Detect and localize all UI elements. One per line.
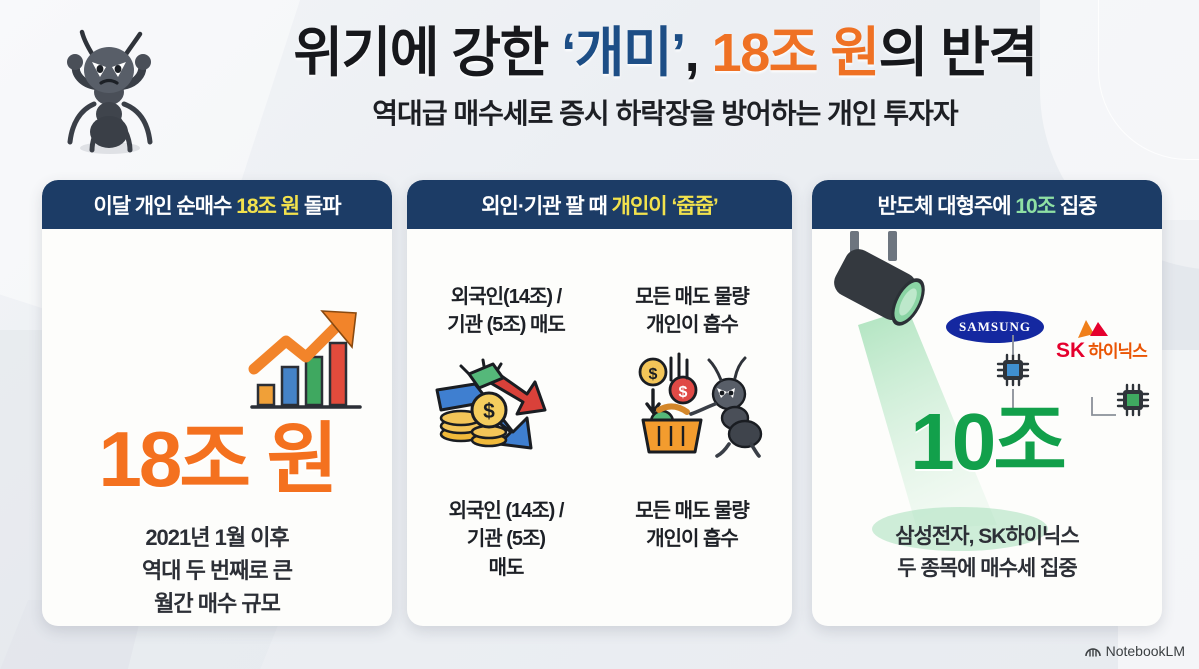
card-2-right-footer: 모든 매도 물량 개인이 흡수 [599,497,785,554]
card-net-buying: 이달 개인 순매수 18조 원 돌파 18조 원 2021년 1월 이후 역대 … [42,180,392,626]
title-segment-5: 의 반격 [879,23,1037,83]
card-2-header-text: 외인·기관 팔 때 개인이 ‘줍줍’ [481,190,718,220]
card-2-header-seg-1: 외인·기관 팔 때 [481,195,611,218]
card-1-caption-line-3: 월간 매수 규모 [42,587,392,620]
title-segment-1: 위기에 강한 [293,23,561,83]
title-segment-gaemi: ‘개미’ [561,23,684,83]
card-3-big-number: 10조 [812,377,1162,493]
card-3-header: 반도체 대형주에 10조 집중 [812,180,1162,229]
card-2-left-column: 외국인(14조) / 기관 (5조) 매도 $ [413,283,599,463]
title-segment-amount: 18조 원 [712,23,879,83]
card-2-header: 외인·기관 팔 때 개인이 ‘줍줍’ [407,180,792,229]
notebooklm-watermark: NotebookLM [1085,643,1185,659]
svg-text:$: $ [679,384,688,401]
card-2-right-heading-line-2: 개인이 흡수 [599,311,785,339]
card-3-caption-line-2: 두 종목에 매수세 집중 [812,553,1162,585]
card-2-header-highlight: 개인이 ‘줍줍’ [612,195,718,218]
ant-shopping-basket-icon: $ $ [617,348,767,458]
title-block: 위기에 강한 ‘개미’, 18조 원의 반격 역대급 매수세로 증시 하락장을 … [160,22,1170,132]
card-2-left-footer: 외국인 (14조) / 기관 (5조) 매도 [413,497,599,582]
card-3-header-seg-1: 반도체 대형주에 [877,195,1015,218]
title-segment-comma: , [685,23,712,83]
card-2-right-heading-line-1: 모든 매도 물량 [599,283,785,311]
card-semiconductor-focus: 반도체 대형주에 10조 집중 [812,180,1162,626]
card-2-right-column: 모든 매도 물량 개인이 흡수 $ $ [599,283,785,463]
page-header: 위기에 강한 ‘개미’, 18조 원의 반격 역대급 매수세로 증시 하락장을 … [0,0,1199,168]
card-1-header-highlight: 18조 원 [236,195,299,218]
card-1-header-text: 이달 개인 순매수 18조 원 돌파 [93,190,340,220]
card-3-caption-line-1: 삼성전자, SK하이닉스 [812,521,1162,553]
coins-down-arrows-icon: $ [431,348,581,458]
card-2-left-footer-line-2: 기관 (5조) [413,525,599,553]
card-1-body: 18조 원 2021년 1월 이후 역대 두 번째로 큰 월간 매수 규모 [42,229,392,626]
svg-text:$: $ [483,400,495,423]
page-subtitle: 역대급 매수세로 증시 하락장을 방어하는 개인 투자자 [160,92,1170,132]
card-2-left-footer-line-3: 매도 [413,554,599,582]
notebooklm-label: NotebookLM [1106,643,1185,659]
svg-text:$: $ [649,366,658,383]
card-3-header-text: 반도체 대형주에 10조 집중 [877,190,1096,220]
card-1-caption: 2021년 1월 이후 역대 두 번째로 큰 월간 매수 규모 [42,521,392,620]
card-2-left-heading: 외국인(14조) / 기관 (5조) 매도 [413,283,599,340]
card-3-caption: 삼성전자, SK하이닉스 두 종목에 매수세 집중 [812,521,1162,584]
card-2-right-heading: 모든 매도 물량 개인이 흡수 [599,283,785,340]
card-2-left-heading-line-1: 외국인(14조) / [413,283,599,311]
card-2-left-footer-line-1: 외국인 (14조) / [413,497,599,525]
card-1-caption-line-2: 역대 두 번째로 큰 [42,554,392,587]
page-title: 위기에 강한 ‘개미’, 18조 원의 반격 [160,22,1170,84]
card-1-header: 이달 개인 순매수 18조 원 돌파 [42,180,392,229]
card-1-header-seg-3: 돌파 [299,195,340,218]
card-1-caption-line-1: 2021년 1월 이후 [42,521,392,554]
card-2-right-footer-line-2: 개인이 흡수 [599,525,785,553]
card-2-left-heading-line-2: 기관 (5조) 매도 [413,311,599,339]
card-3-header-seg-3: 집중 [1055,195,1096,218]
card-1-big-number: 18조 원 [42,397,392,509]
card-2-right-footer-line-1: 모든 매도 물량 [599,497,785,525]
card-3-header-highlight: 10조 [1015,195,1055,218]
card-foreign-institution-selling: 외인·기관 팔 때 개인이 ‘줍줍’ 외국인(14조) / 기관 (5조) 매도 [407,180,792,626]
notebooklm-icon [1085,644,1101,658]
card-2-body: 외국인(14조) / 기관 (5조) 매도 $ [407,229,792,626]
card-3-body: SAMSUNG SK 하이닉스 [812,229,1162,626]
ant-mascot-icon [48,18,168,158]
card-1-header-seg-1: 이달 개인 순매수 [93,195,236,218]
card-row: 이달 개인 순매수 18조 원 돌파 18조 원 2021년 1월 이후 역대 … [0,180,1199,630]
